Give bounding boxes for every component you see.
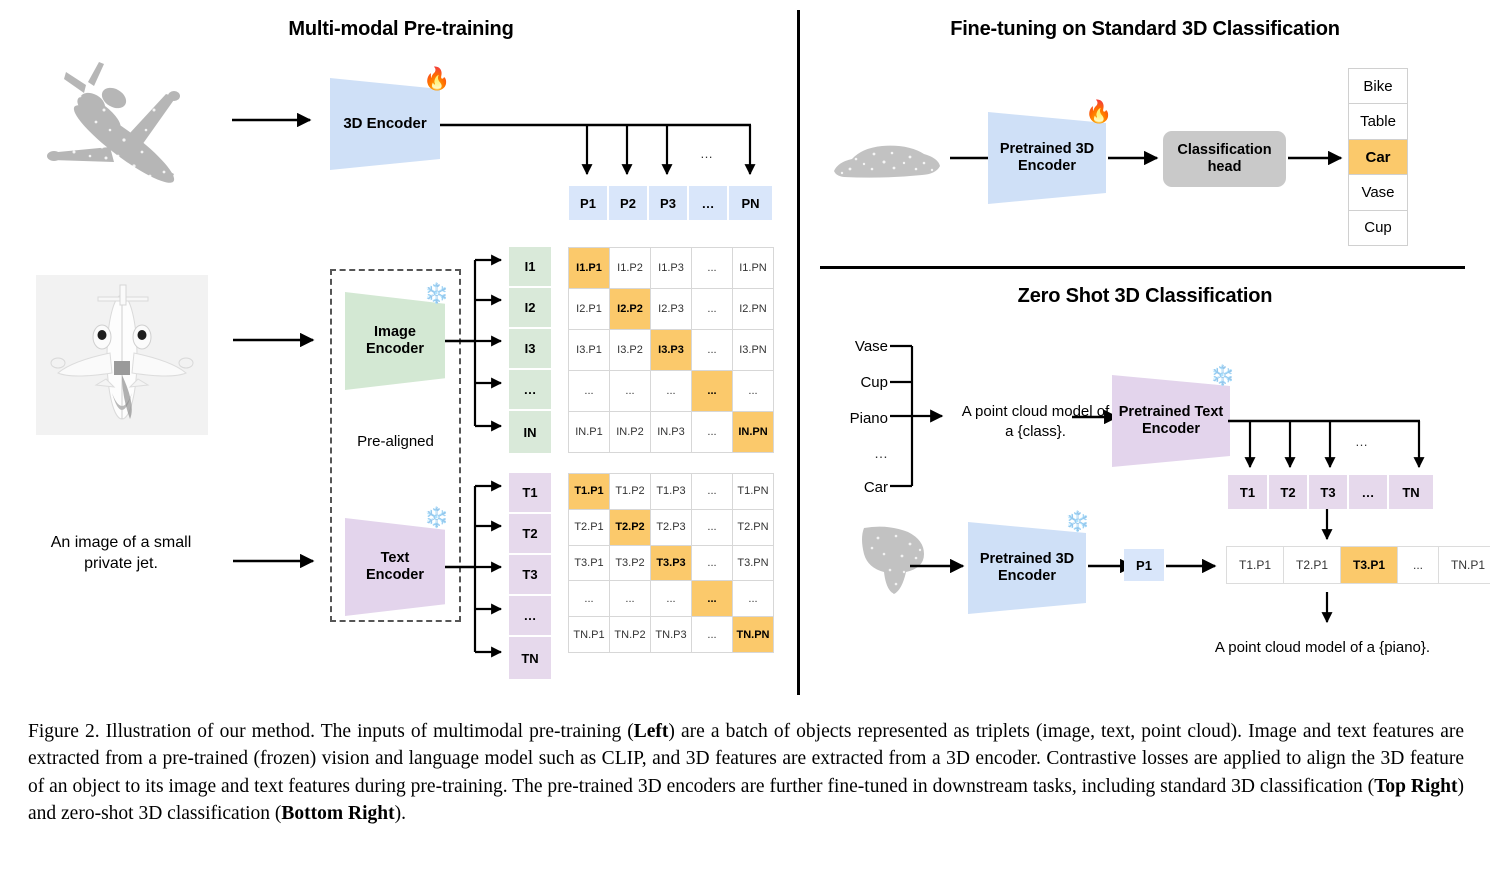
arrow-pointcloud-to-encoder — [232, 110, 318, 130]
text-token-strip: T1 T2 T3 … TN — [509, 473, 551, 679]
text-encoder-label-line2: Encoder — [366, 567, 424, 584]
arrow-tokens-to-scores — [1320, 509, 1334, 545]
arrow-p1-to-scores — [1166, 557, 1222, 575]
fire-icon-finetune: 🔥 — [1085, 101, 1112, 123]
airplane-point-cloud — [14, 52, 229, 227]
token-t-ellipsis: … — [509, 596, 551, 637]
image-matrix-cell-1-4: I2.PN — [733, 289, 773, 329]
text-matrix-cell-2-4: T3.PN — [733, 546, 773, 581]
image-encoder-label-line2: Encoder — [366, 341, 424, 358]
image-matrix-cell-4-4: IN.PN — [733, 412, 773, 452]
3d-encoder-label: 3D Encoder — [343, 115, 426, 132]
snowflake-icon-text-encoder-zs: ❄️ — [1210, 366, 1235, 386]
jet-image — [36, 275, 208, 435]
image-matrix-cell-2-4: I3.PN — [733, 330, 773, 370]
zs-token-t1: T1 — [1228, 475, 1269, 509]
token-pn: PN — [729, 186, 772, 220]
text-matrix-cell-1-3: ... — [692, 510, 732, 545]
image-matrix-cell-0-0: I1.P1 — [569, 248, 609, 288]
horizontal-divider — [820, 266, 1465, 269]
token-tn: TN — [509, 637, 551, 679]
token-i1: I1 — [509, 247, 551, 288]
3d-encoder-block: 3D Encoder — [330, 78, 440, 170]
text-matrix-cell-4-3: ... — [692, 617, 732, 652]
image-matrix-cell-3-3: ... — [692, 371, 732, 411]
token-p-ellipsis: … — [689, 186, 729, 220]
image-matrix-cell-2-3: ... — [692, 330, 732, 370]
text-matrix-cell-4-1: TN.P2 — [610, 617, 650, 652]
text-matrix-cell-2-3: ... — [692, 546, 732, 581]
token-p3: P3 — [649, 186, 689, 220]
image-matrix-cell-3-0: ... — [569, 371, 609, 411]
class-item-cup: Cup — [1349, 211, 1407, 245]
text-matrix-cell-0-1: T1.P2 — [610, 474, 650, 509]
text-encoder-block: Text Encoder — [345, 518, 445, 616]
score-cell-1: T2.P1 — [1284, 547, 1340, 583]
image-matrix-cell-2-2: I3.P3 — [651, 330, 691, 370]
score-cell-2: T3.P1 — [1341, 547, 1397, 583]
panel-title-pretraining: Multi-modal Pre-training — [236, 18, 566, 41]
token-i3: I3 — [509, 329, 551, 370]
zs-token-t2: T2 — [1269, 475, 1309, 509]
token-t3: T3 — [509, 555, 551, 596]
zeroshot-class-cup: Cup — [820, 373, 888, 393]
zeroshot-class-ellipsis: … — [820, 444, 888, 462]
text-matrix-cell-4-2: TN.P3 — [651, 617, 691, 652]
pretrained-3d-encoder-line2: Encoder — [1000, 158, 1094, 175]
text-matrix-cell-1-0: T2.P1 — [569, 510, 609, 545]
text-matrix-cell-3-2: ... — [651, 581, 691, 616]
zs-3d-encoder-line1: Pretrained 3D — [980, 551, 1074, 568]
fanout-zeroshot-text-tokens — [1228, 411, 1432, 483]
figure-illustration: Multi-modal Pre-training — [0, 0, 1490, 700]
text-point-similarity-matrix: T1.P1T1.P2T1.P3...T1.PNT2.P1T2.P2T2.P3..… — [568, 473, 774, 653]
caption-bold-bottom-right: Bottom Right — [281, 803, 394, 824]
text-matrix-cell-3-1: ... — [610, 581, 650, 616]
caption-seg4: ). — [395, 803, 406, 824]
image-matrix-cell-2-1: I3.P2 — [610, 330, 650, 370]
panel-title-finetuning: Fine-tuning on Standard 3D Classificatio… — [880, 18, 1410, 41]
snowflake-icon-3d-encoder-zs: ❄️ — [1065, 512, 1090, 532]
token-i-ellipsis: … — [509, 370, 551, 411]
zeroshot-token-ellipsis: … — [1355, 434, 1368, 451]
score-cell-3: ... — [1398, 547, 1438, 583]
zeroshot-score-row: T1.P1T2.P1T3.P1...TN.P1 — [1226, 546, 1490, 584]
fanout-image-tokens — [445, 252, 511, 434]
zeroshot-class-piano: Piano — [820, 409, 888, 429]
image-matrix-cell-1-0: I2.P1 — [569, 289, 609, 329]
text-matrix-cell-3-0: ... — [569, 581, 609, 616]
text-matrix-cell-1-2: T2.P3 — [651, 510, 691, 545]
zs-3d-encoder-line2: Encoder — [980, 568, 1074, 585]
text-matrix-cell-2-0: T3.P1 — [569, 546, 609, 581]
prealigned-label: Pre-aligned — [330, 432, 461, 452]
class-item-bike: Bike — [1349, 69, 1407, 104]
arrow-text-to-encoder — [233, 551, 321, 571]
zeroshot-result-text: A point cloud model of a {piano}. — [1180, 638, 1465, 658]
pretrained-text-encoder-line1: Pretrained Text — [1119, 404, 1224, 421]
token-i2: I2 — [509, 288, 551, 329]
classification-head-line1: Classification — [1177, 142, 1271, 158]
score-cell-0: T1.P1 — [1227, 547, 1283, 583]
classification-head-line2: head — [1208, 159, 1242, 175]
token-in: IN — [509, 411, 551, 453]
image-matrix-cell-4-3: ... — [692, 412, 732, 452]
arrow-encoder-to-head — [1108, 149, 1164, 167]
image-matrix-cell-0-3: ... — [692, 248, 732, 288]
text-matrix-cell-1-4: T2.PN — [733, 510, 773, 545]
zeroshot-pretrained-3d-encoder-block: Pretrained 3D Encoder — [968, 522, 1086, 614]
image-matrix-cell-0-2: I1.P3 — [651, 248, 691, 288]
class-item-car: Car — [1349, 140, 1407, 175]
zs-token-t3: T3 — [1309, 475, 1349, 509]
zs-token-t-ellipsis: … — [1349, 475, 1389, 509]
image-matrix-cell-4-1: IN.P2 — [610, 412, 650, 452]
token-p1: P1 — [569, 186, 609, 220]
text-matrix-cell-3-3: ... — [692, 581, 732, 616]
image-matrix-cell-4-0: IN.P1 — [569, 412, 609, 452]
image-matrix-cell-0-1: I1.P2 — [610, 248, 650, 288]
class-item-table: Table — [1349, 104, 1407, 139]
pretrained-3d-encoder-line1: Pretrained 3D — [1000, 141, 1094, 158]
text-matrix-cell-2-1: T3.P2 — [610, 546, 650, 581]
arrow-scores-to-result — [1320, 592, 1334, 628]
text-matrix-cell-0-0: T1.P1 — [569, 474, 609, 509]
vertical-divider — [797, 10, 800, 695]
token-p2: P2 — [609, 186, 649, 220]
text-matrix-cell-2-2: T3.P3 — [651, 546, 691, 581]
token-t2: T2 — [509, 514, 551, 555]
classification-head-block: Classification head — [1163, 131, 1286, 187]
class-list: BikeTableCarVaseCup — [1348, 68, 1408, 246]
score-cell-4: TN.P1 — [1439, 547, 1490, 583]
caption-bold-top-right: Top Right — [1374, 776, 1457, 797]
token-t1: T1 — [509, 473, 551, 514]
image-matrix-cell-1-3: ... — [692, 289, 732, 329]
arrow-image-to-encoder — [233, 330, 321, 350]
car-point-cloud — [828, 135, 946, 185]
text-matrix-cell-4-4: TN.PN — [733, 617, 773, 652]
zeroshot-text-token-strip: T1 T2 T3 … TN — [1228, 475, 1433, 509]
arrow-head-to-classes — [1288, 149, 1348, 167]
text-encoder-label-line1: Text — [366, 550, 424, 567]
text-matrix-cell-0-4: T1.PN — [733, 474, 773, 509]
image-encoder-block: Image Encoder — [345, 292, 445, 390]
fanout-point-tokens — [440, 112, 765, 194]
caption-bold-left: Left — [634, 721, 669, 742]
fanout-text-tokens — [445, 478, 511, 660]
image-matrix-cell-3-2: ... — [651, 371, 691, 411]
pretrained-3d-encoder-block: Pretrained 3D Encoder — [988, 112, 1106, 204]
caption-seg1: Figure 2. Illustration of our method. Th… — [28, 721, 634, 742]
zs-token-tn: TN — [1389, 475, 1433, 509]
image-matrix-cell-4-2: IN.P3 — [651, 412, 691, 452]
point-token-strip: P1 P2 P3 … PN — [569, 186, 772, 220]
arrow-piano-to-encoder — [910, 557, 970, 575]
text-matrix-cell-0-3: ... — [692, 474, 732, 509]
image-matrix-cell-3-1: ... — [610, 371, 650, 411]
image-point-similarity-matrix: I1.P1I1.P2I1.P3...I1.PNI2.P1I2.P2I2.P3..… — [568, 247, 774, 453]
figure-caption: Figure 2. Illustration of our method. Th… — [28, 718, 1464, 827]
pretrained-text-encoder-block: Pretrained Text Encoder — [1112, 375, 1230, 467]
zeroshot-class-car: Car — [820, 478, 888, 498]
zeroshot-class-vase: Vase — [820, 337, 888, 357]
image-token-strip: I1 I2 I3 … IN — [509, 247, 551, 453]
zeroshot-point-token-box: P1 — [1124, 549, 1164, 581]
image-matrix-cell-2-0: I3.P1 — [569, 330, 609, 370]
text-matrix-cell-3-4: ... — [733, 581, 773, 616]
image-matrix-cell-1-1: I2.P2 — [610, 289, 650, 329]
panel-title-zeroshot: Zero Shot 3D Classification — [935, 285, 1355, 308]
point-token-ellipsis: … — [700, 146, 713, 163]
text-matrix-cell-0-2: T1.P3 — [651, 474, 691, 509]
text-matrix-cell-4-0: TN.P1 — [569, 617, 609, 652]
fire-icon: 🔥 — [423, 68, 450, 90]
image-matrix-cell-0-4: I1.PN — [733, 248, 773, 288]
text-input-caption: An image of a small private jet. — [28, 533, 214, 575]
text-matrix-cell-1-1: T2.P2 — [610, 510, 650, 545]
zs-token-p1: P1 — [1124, 549, 1164, 581]
image-encoder-label-line1: Image — [366, 324, 424, 341]
class-item-vase: Vase — [1349, 175, 1407, 210]
image-matrix-cell-1-2: I2.P3 — [651, 289, 691, 329]
image-matrix-cell-3-4: ... — [733, 371, 773, 411]
pretrained-text-encoder-line2: Encoder — [1119, 421, 1224, 438]
